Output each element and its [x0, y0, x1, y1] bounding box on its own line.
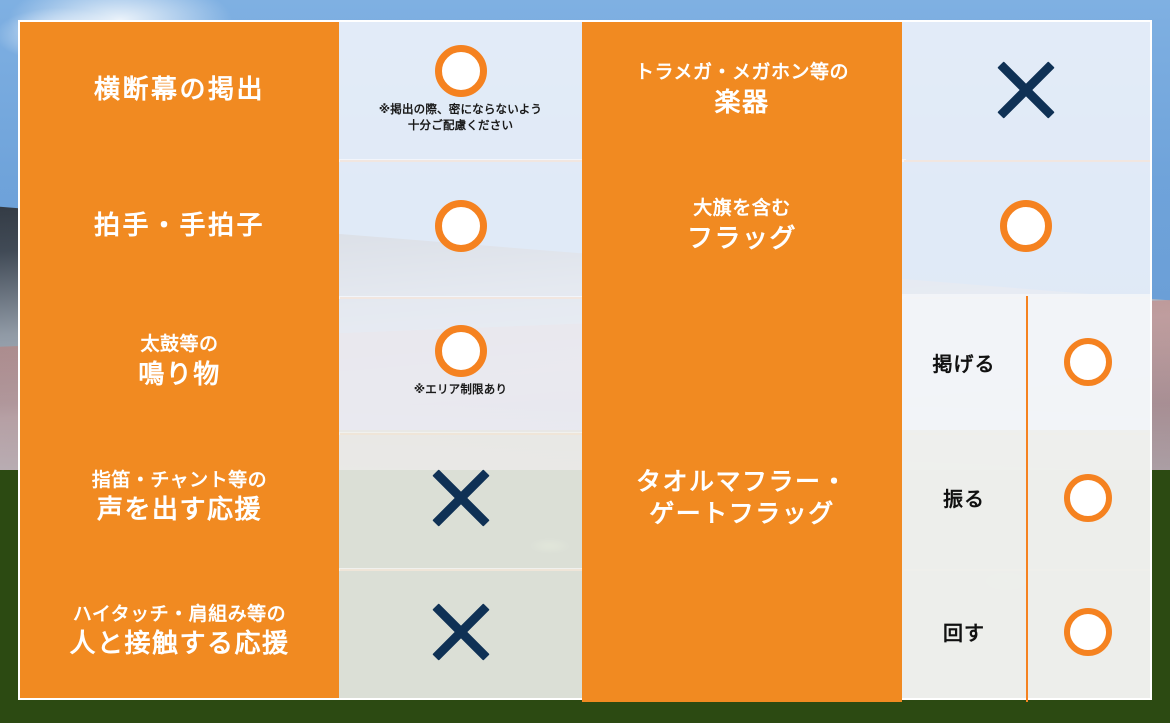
cell-contact-mark	[339, 565, 582, 698]
towel-label-spacer	[582, 565, 902, 698]
cell-drums-label: 太鼓等の 鳴り物	[20, 294, 339, 430]
maru-circle-icon	[1000, 200, 1052, 252]
drums-note: ※エリア制限あり	[414, 383, 507, 399]
voice-label-main: 声を出す応援	[97, 493, 262, 526]
cell-drums-mark: ※エリア制限あり	[339, 294, 582, 430]
drums-label-sub: 太鼓等の	[140, 333, 218, 357]
contact-label-sub: ハイタッチ・肩組み等の	[73, 603, 286, 627]
action-verb-furu: 振る	[902, 430, 1026, 565]
action-verb-mawasu: 回す	[902, 565, 1026, 698]
cell-clapping-mark	[339, 158, 582, 294]
banner-label-main: 横断幕の掲出	[94, 73, 265, 106]
table-row: ハイタッチ・肩組み等の 人と接触する応援 回す	[20, 565, 1150, 698]
action-verb-kakageru: 掲げる	[902, 294, 1026, 430]
action-mark-furu	[1026, 430, 1150, 565]
megaphone-label-sub: トラメガ・メガホン等の	[635, 61, 849, 85]
batsu-cross-icon	[997, 61, 1055, 119]
screenshot-root: 横断幕の掲出 ※掲出の際、密にならないよう 十分ご配慮ください トラメガ・メガホ…	[0, 0, 1170, 723]
table-row: 横断幕の掲出 ※掲出の際、密にならないよう 十分ご配慮ください トラメガ・メガホ…	[20, 22, 1150, 158]
cell-flag-label: 大旗を含む フラッグ	[582, 158, 902, 294]
rules-table: 横断幕の掲出 ※掲出の際、密にならないよう 十分ご配慮ください トラメガ・メガホ…	[18, 20, 1152, 700]
maru-circle-icon	[435, 200, 487, 252]
cell-clapping-label: 拍手・手拍子	[20, 158, 339, 294]
maru-circle-icon	[1064, 474, 1112, 522]
cell-voice-label: 指笛・チャント等の 声を出す応援	[20, 430, 339, 565]
table-row: 太鼓等の 鳴り物 ※エリア制限あり タオルマフラー・ ゲートフラッグ 掲げる	[20, 294, 1150, 430]
cell-contact-label: ハイタッチ・肩組み等の 人と接触する応援	[20, 565, 339, 698]
cell-megaphone-mark	[902, 22, 1150, 158]
table-row: 指笛・チャント等の 声を出す応援 振る	[20, 430, 1150, 565]
flag-label-main: フラッグ	[687, 222, 797, 255]
contact-label-main: 人と接触する応援	[69, 627, 289, 660]
megaphone-label-main: 楽器	[714, 86, 769, 119]
batsu-cross-icon	[432, 603, 490, 661]
cell-voice-mark	[339, 430, 582, 565]
drums-label-main: 鳴り物	[138, 358, 221, 391]
maru-circle-icon	[435, 45, 487, 97]
banner-note-line2: 十分ご配慮ください	[408, 120, 513, 132]
subcolumn-sep-orange	[1026, 296, 1028, 702]
table-row: 拍手・手拍子 大旗を含む フラッグ	[20, 158, 1150, 294]
maru-circle-icon	[1064, 608, 1112, 656]
cell-banner-label: 横断幕の掲出	[20, 22, 339, 158]
maru-circle-icon	[435, 325, 487, 377]
clapping-label-main: 拍手・手拍子	[94, 209, 265, 242]
banner-note-line1: ※掲出の際、密にならないよう	[379, 104, 542, 116]
banner-note: ※掲出の際、密にならないよう 十分ご配慮ください	[379, 103, 542, 134]
voice-label-sub: 指笛・チャント等の	[92, 469, 267, 493]
action-mark-mawasu	[1026, 565, 1150, 698]
action-mark-kakageru	[1026, 294, 1150, 430]
cell-flag-mark	[902, 158, 1150, 294]
flag-label-sub: 大旗を含む	[693, 197, 791, 221]
cell-banner-mark: ※掲出の際、密にならないよう 十分ご配慮ください	[339, 22, 582, 158]
towel-label-spacer	[582, 430, 902, 565]
batsu-cross-icon	[432, 469, 490, 527]
cell-megaphone-label: トラメガ・メガホン等の 楽器	[582, 22, 902, 158]
maru-circle-icon	[1064, 338, 1112, 386]
